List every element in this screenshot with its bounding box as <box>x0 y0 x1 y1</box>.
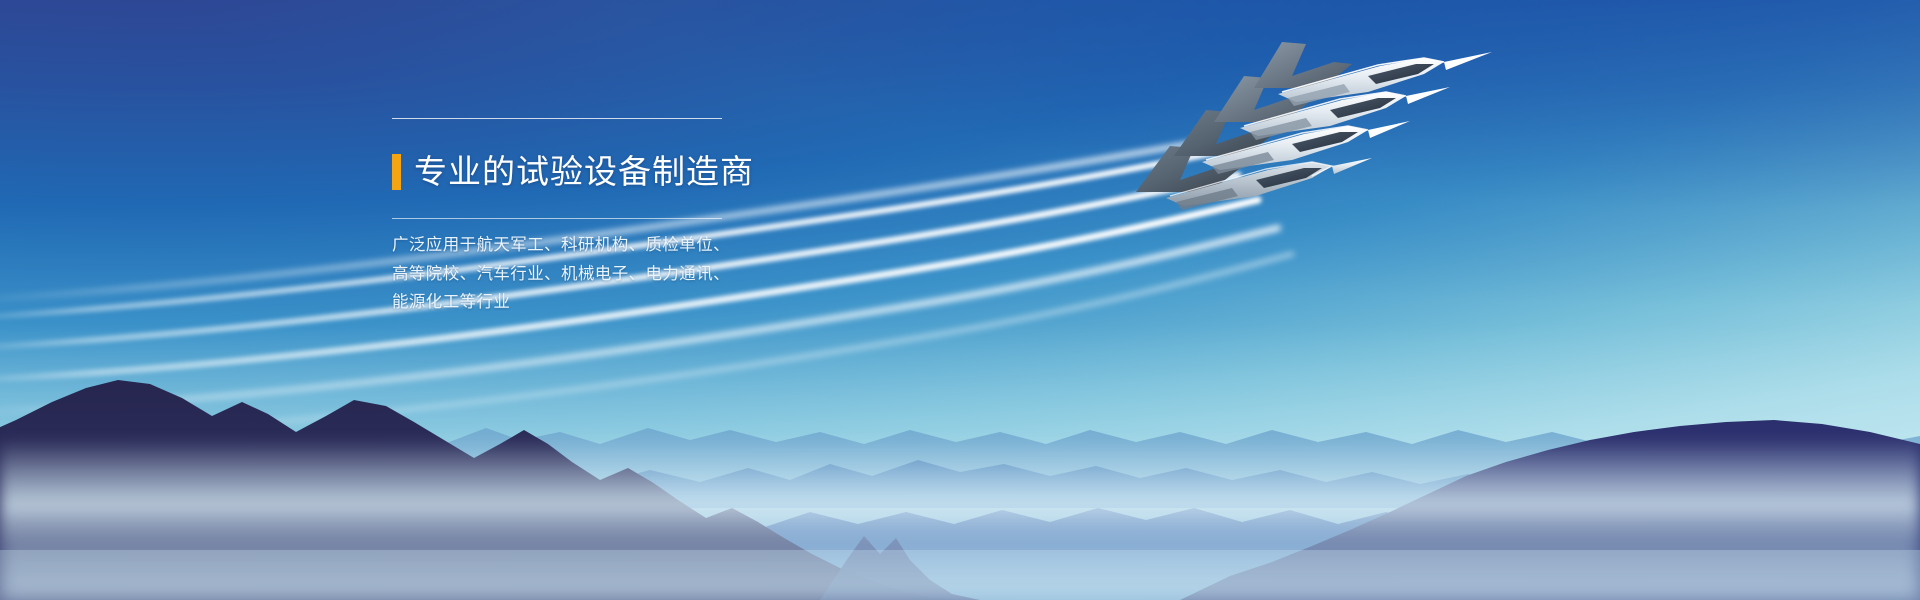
vertical-bar-icon <box>392 154 401 190</box>
subtitle-line-1: 广泛应用于航天军工、科研机构、质检单位、 <box>392 231 732 259</box>
hero-banner: 专业的试验设备制造商 广泛应用于航天军工、科研机构、质检单位、 高等院校、汽车行… <box>0 0 1920 600</box>
subtitle-block: 广泛应用于航天军工、科研机构、质检单位、 高等院校、汽车行业、机械电子、电力通讯… <box>392 231 732 316</box>
banner-copy: 专业的试验设备制造商 广泛应用于航天军工、科研机构、质检单位、 高等院校、汽车行… <box>392 118 732 316</box>
subtitle-line-2: 高等院校、汽车行业、机械电子、电力通讯、 <box>392 260 732 288</box>
divider-top <box>392 118 722 119</box>
headline-row: 专业的试验设备制造商 <box>392 133 732 210</box>
divider-bottom <box>392 218 722 219</box>
page-title: 专业的试验设备制造商 <box>414 155 754 188</box>
subtitle-line-3: 能源化工等行业 <box>392 288 732 316</box>
mountain-range-icon <box>0 340 1920 600</box>
